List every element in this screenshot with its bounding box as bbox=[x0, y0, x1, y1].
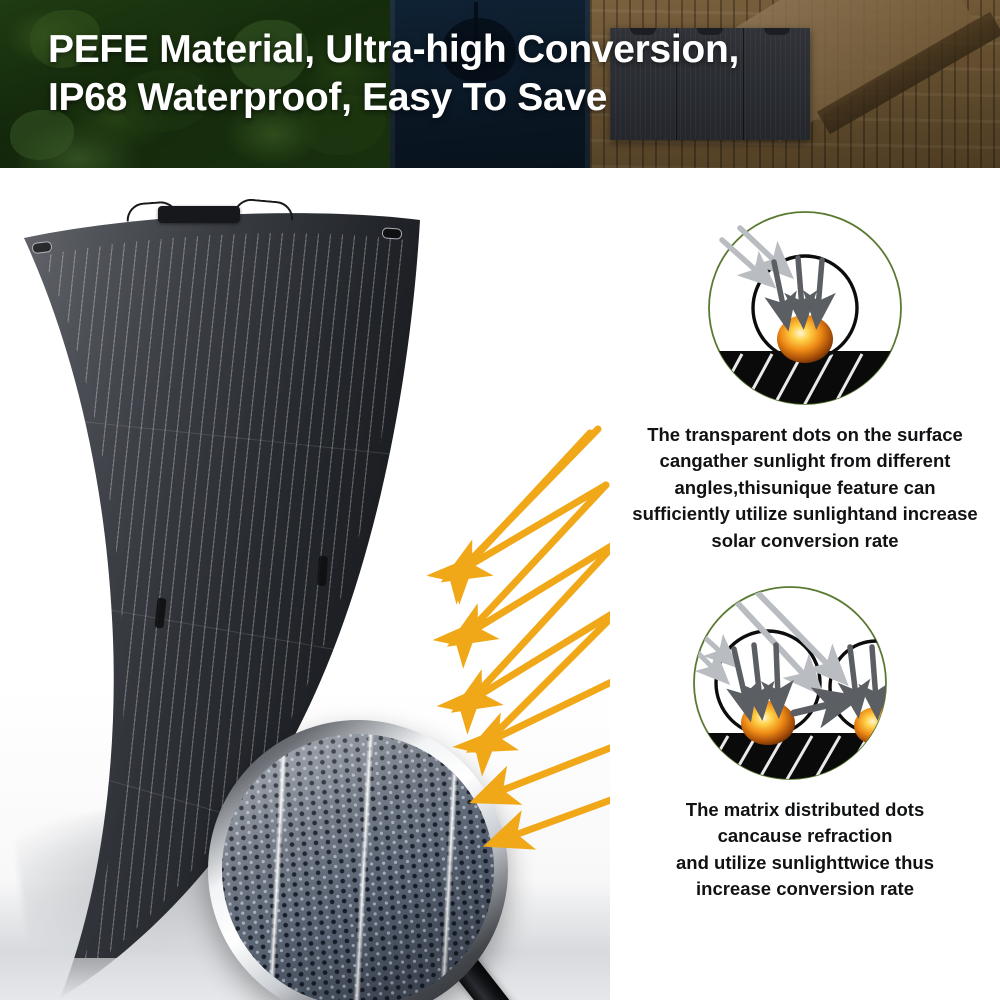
hero-banner: PEFE Material, Ultra-high Conversion, IP… bbox=[0, 0, 1000, 168]
diagram-holder-2 bbox=[610, 583, 1000, 783]
product-feature-image: PEFE Material, Ultra-high Conversion, IP… bbox=[0, 0, 1000, 1000]
diagram-substrate-2 bbox=[690, 733, 905, 783]
ray-node-1 bbox=[451, 562, 469, 580]
diagram-light-sphere bbox=[777, 315, 833, 363]
sunlight-ray-arrows bbox=[430, 423, 610, 853]
double-dome-refraction-diagram bbox=[690, 583, 920, 783]
feature-transparent-dots: The transparent dots on the surface cang… bbox=[610, 208, 1000, 554]
ray-node-3 bbox=[461, 692, 479, 710]
feature-caption-2: The matrix distributed dots cancause ref… bbox=[610, 797, 1000, 903]
ray-node-2 bbox=[457, 626, 475, 644]
feature-matrix-dots: The matrix distributed dots cancause ref… bbox=[610, 583, 1000, 903]
diagram-light-sphere-left bbox=[741, 701, 795, 745]
panel-junction-box bbox=[158, 206, 240, 223]
panel-grommet-top-right bbox=[382, 227, 403, 239]
single-dome-refraction-diagram bbox=[700, 208, 910, 408]
feature-caption-1: The transparent dots on the surface cang… bbox=[610, 422, 1000, 554]
feature-column: The transparent dots on the surface cang… bbox=[610, 168, 1000, 1000]
diagram-holder-1 bbox=[610, 208, 1000, 408]
product-stage bbox=[0, 168, 610, 1000]
hero-title: PEFE Material, Ultra-high Conversion, IP… bbox=[48, 26, 948, 121]
